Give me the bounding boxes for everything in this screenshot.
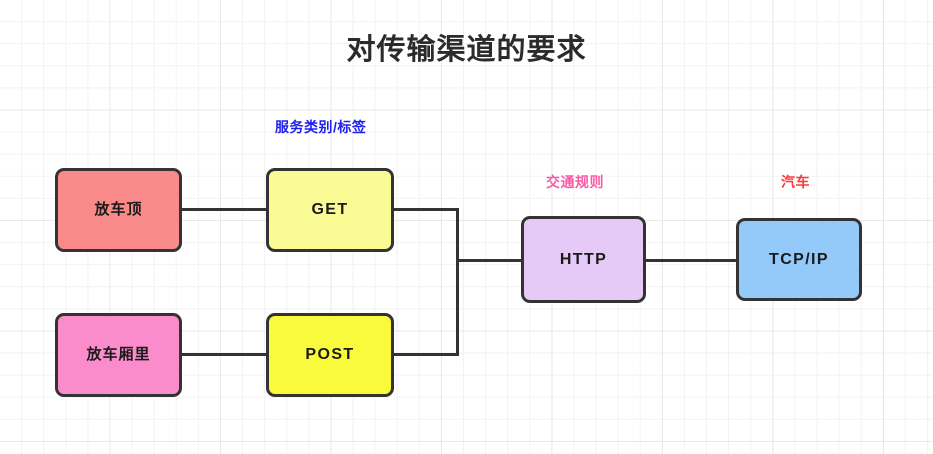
edge-cabin-to-post [182,353,267,356]
edge-roof-to-get [182,208,267,211]
annotation-traffic-rules: 交通规则 [546,172,604,192]
edge-post-outgoing [393,353,459,356]
node-post[interactable]: POST [266,313,394,397]
node-tcpip[interactable]: TCP/IP [736,218,862,301]
node-roof[interactable]: 放车顶 [55,168,182,252]
node-get[interactable]: GET [266,168,394,252]
edge-get-outgoing [393,208,459,211]
edge-http-to-tcpip [645,259,738,262]
edge-merge-to-http [456,259,524,262]
page-title: 对传输渠道的要求 [0,26,933,68]
annotation-service-category: 服务类别/标签 [275,117,366,137]
annotation-car: 汽车 [781,172,810,192]
edge-merge-vertical [456,208,459,356]
node-cabin[interactable]: 放车厢里 [55,313,182,397]
diagram-canvas: 对传输渠道的要求 放车顶 放车厢里 GET POST HTTP TCP/IP 服… [0,0,933,454]
node-http[interactable]: HTTP [521,216,646,303]
